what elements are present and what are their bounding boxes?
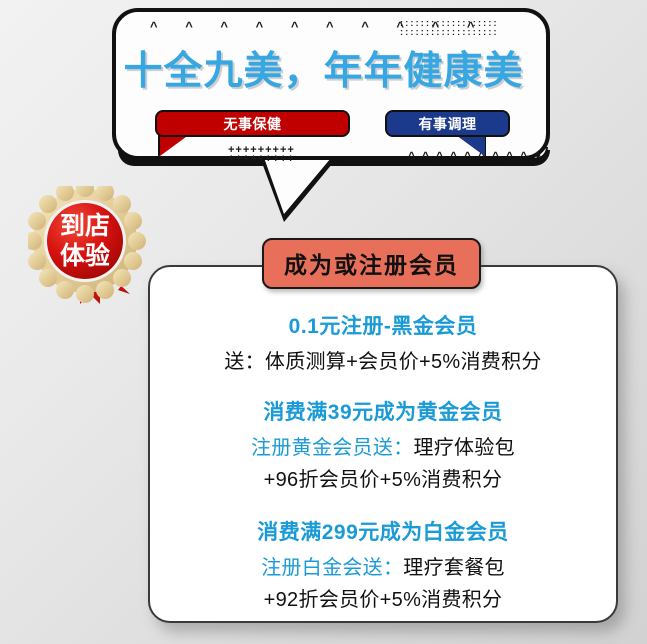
card-header-pill: 成为或注册会员 [262, 238, 481, 289]
seal-text-line1: 到店 [60, 212, 110, 240]
tier-black-gold: 0.1元注册-黑金会员 送：体质测算+会员价+5%消费积分 [148, 310, 618, 374]
tier-line-plain: +92折会员价+5%消费积分 [264, 589, 503, 611]
dot-decoration-top-right: ::::::::::::::::::: ::::::::::::::::::: [400, 19, 499, 37]
plus-row-lower: +++++++++ [228, 155, 295, 164]
tier-line: 送：体质测算+会员价+5%消费积分 [148, 345, 618, 374]
tier-line: +92折会员价+5%消费积分 [148, 583, 618, 612]
tier-title: 0.1元注册-黑金会员 [148, 310, 618, 340]
tier-line-accent: 注册白金会送： [261, 557, 403, 579]
seal-text-line2: 体验 [60, 241, 110, 270]
dot-row-lower: ::::::::::::::::::: [400, 28, 499, 37]
tier-gold: 消费满39元成为黄金会员 注册黄金会员送：理疗体验包 +96折会员价+5%消费积… [148, 396, 618, 492]
button-preventive-care[interactable]: 无事保健 [155, 110, 350, 137]
plus-decoration-bottom-left: +++++++++ +++++++++ [228, 146, 295, 164]
tier-line-plain: 理疗套餐包 [403, 557, 505, 579]
tier-line-plain: +96折会员价+5%消费积分 [264, 469, 503, 491]
seal-graphic: 到店 体验 [28, 186, 146, 304]
tier-line: 注册白金会送：理疗套餐包 [148, 551, 618, 580]
tier-platinum: 消费满299元成为白金会员 注册白金会送：理疗套餐包 +92折会员价+5%消费积… [148, 516, 618, 612]
tier-title: 消费满299元成为白金会员 [148, 516, 618, 546]
button-treatment[interactable]: 有事调理 [385, 110, 510, 137]
membership-tier-list: 0.1元注册-黑金会员 送：体质测算+会员价+5%消费积分 消费满39元成为黄金… [148, 300, 618, 630]
banner-title: 十全九美，年年健康美 [0, 40, 647, 96]
tier-line-plain: 理疗体验包 [413, 437, 515, 459]
tier-line-accent: 注册黄金会员送： [251, 437, 413, 459]
tier-title: 消费满39元成为黄金会员 [148, 396, 618, 426]
tier-line: +96折会员价+5%消费积分 [148, 463, 618, 492]
tier-line-plain: 送：体质测算+会员价+5%消费积分 [224, 351, 541, 373]
tier-line: 注册黄金会员送：理疗体验包 [148, 431, 618, 460]
poster-canvas: ^ ^ ^ ^ ^ ^ ^ ^ ^ ^ ::::::::::::::::::: … [0, 0, 647, 644]
red-bubble-tail [160, 134, 190, 156]
blue-bubble-tail [455, 134, 485, 156]
store-visit-seal: 到店 体验 [28, 186, 146, 304]
